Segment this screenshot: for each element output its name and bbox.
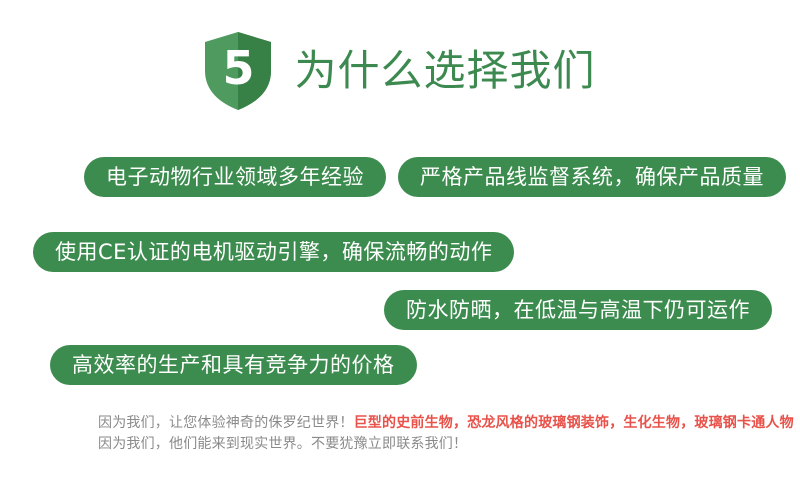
footer-line-1: 因为我们，让您体验神奇的侏罗纪世界！巨型的史前生物，恐龙风格的玻璃钢装饰，生化生… [98, 413, 758, 434]
feature-pill-efficient-pricing: 高效率的生产和具有竞争力的价格 [50, 345, 417, 385]
footer-line-1-lead: 因为我们，让您体验神奇的侏罗纪世界！ [98, 415, 354, 431]
badge-number: 5 [204, 31, 272, 111]
footer-text: 因为我们，让您体验神奇的侏罗纪世界！巨型的史前生物，恐龙风格的玻璃钢装饰，生化生… [98, 413, 758, 455]
feature-pill-weather-resistant: 防水防晒，在低温与高温下仍可运作 [384, 290, 772, 330]
feature-pill-years-experience: 电子动物行业领域多年经验 [84, 157, 386, 197]
footer-line-1-highlight: 巨型的史前生物，恐龙风格的玻璃钢装饰，生化生物，玻璃钢卡通人物 [354, 415, 794, 431]
page-title: 为什么选择我们 [294, 50, 595, 92]
promo-banner: 5 为什么选择我们 电子动物行业领域多年经验 严格产品线监督系统，确保产品质量 … [0, 0, 800, 485]
shield-icon: 5 [204, 31, 272, 111]
feature-pill-ce-motor-engine: 使用CE认证的电机驱动引擎，确保流畅的动作 [33, 232, 514, 272]
header: 5 为什么选择我们 [0, 26, 800, 116]
footer-line-2: 因为我们，他们能来到现实世界。不要犹豫立即联系我们！ [98, 434, 758, 455]
feature-pill-quality-control: 严格产品线监督系统，确保产品质量 [398, 157, 786, 197]
